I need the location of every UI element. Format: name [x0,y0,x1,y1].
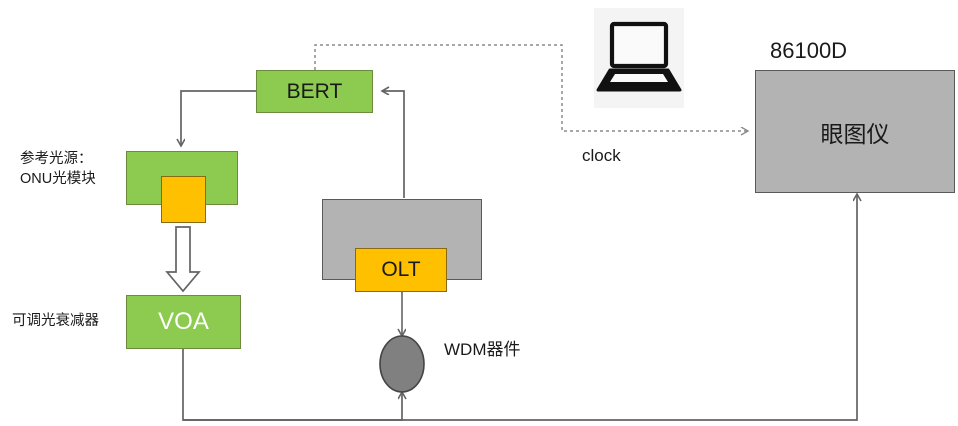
edge-olt-to-bert [382,91,404,198]
edge-onu-to-voa-block-arrow [167,227,199,291]
node-voa-label: VOA [158,308,209,336]
edge-bottom-to-scope [183,194,857,420]
label-scope-model: 86100D [770,36,847,66]
label-attenuator: 可调光衰减器 [12,312,130,332]
node-scope-86100d[interactable]: 眼图仪 [755,70,955,193]
node-olt[interactable]: OLT [355,248,447,292]
node-bert[interactable]: BERT [256,70,373,113]
edge-voa-to-wdm [183,349,402,420]
label-wdm-device: WDM器件 [444,339,520,362]
diagram-canvas: BERT VOA OLT 眼图仪 参考光源： ONU光模块 可调光衰减器 WDM… [0,0,958,426]
laptop-icon [594,8,684,108]
node-bert-label: BERT [287,80,343,104]
label-reference-source: 参考光源： ONU光模块 [20,150,125,189]
node-onu-module-port[interactable] [161,176,206,223]
edge-bert-to-onu [181,91,256,146]
node-voa[interactable]: VOA [126,295,241,349]
node-scope-label: 眼图仪 [821,115,890,149]
node-olt-label: OLT [381,258,420,282]
label-clock: clock [582,145,621,168]
wdm-ellipse [380,336,424,392]
